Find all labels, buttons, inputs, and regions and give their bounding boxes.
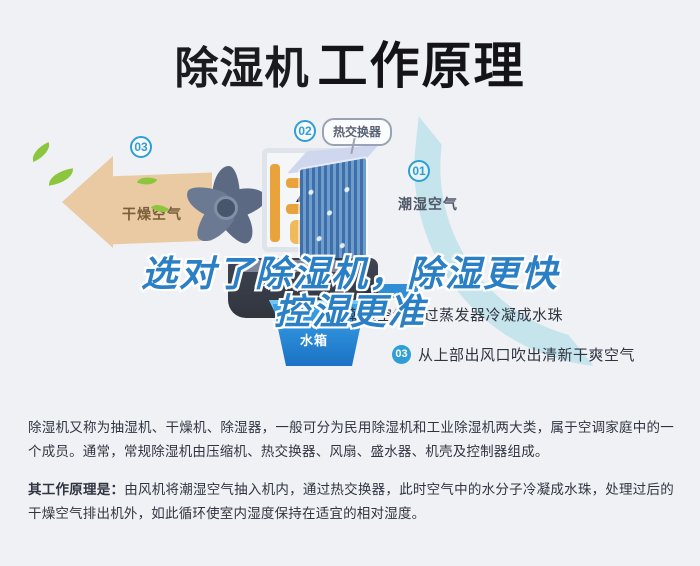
paragraph-principle: 其工作原理是：由风机将潮湿空气抽入机内，通过热交换器，此时空气中的水分子冷凝成水… bbox=[28, 478, 674, 526]
page-title: 除湿机工作原理 bbox=[0, 26, 700, 98]
step-caption-03: 03 从上部出风口吹出清新干爽空气 bbox=[392, 344, 635, 365]
heat-exchanger-callout: 热交换器 bbox=[322, 118, 392, 146]
step-number-badge: 03 bbox=[392, 345, 411, 364]
leaf-icon bbox=[29, 142, 54, 162]
water-tank-label: 水箱 bbox=[300, 330, 328, 349]
badge-03: 03 bbox=[130, 136, 152, 158]
paragraph-principle-rest: 由风机将潮湿空气抽入机内，通过热交换器，此时空气中的水分子冷凝成水珠，处理过后的… bbox=[28, 482, 674, 521]
badge-01: 01 bbox=[408, 160, 430, 182]
paragraph-principle-lead: 其工作原理是： bbox=[28, 482, 124, 497]
step-caption-02: 02 潮湿空气经过蒸发器冷凝成水珠 bbox=[320, 304, 563, 325]
condensation-droplets-icon bbox=[304, 165, 362, 267]
fan-hub-icon bbox=[214, 196, 238, 220]
page-title-part1: 除湿机 bbox=[175, 44, 310, 93]
step-number-badge: 02 bbox=[320, 305, 339, 324]
refrigerant-coil-icon bbox=[270, 164, 280, 242]
page-title-part2: 工作原理 bbox=[318, 38, 526, 94]
fan-icon bbox=[178, 160, 274, 256]
step-text: 潮湿空气经过蒸发器冷凝成水珠 bbox=[346, 304, 563, 325]
article-body: 除湿机又称为抽湿机、干燥机、除湿器，一般可分为民用除湿机和工业除湿机两大类，属于… bbox=[28, 416, 674, 526]
leaf-icon bbox=[47, 168, 75, 185]
machine-vent-icon bbox=[240, 260, 360, 272]
paragraph-definition: 除湿机又称为抽湿机、干燥机、除湿器，一般可分为民用除湿机和工业除湿机两大类，属于… bbox=[28, 416, 674, 464]
badge-02: 02 bbox=[294, 120, 316, 142]
humid-air-label: 潮湿空气 bbox=[398, 194, 458, 214]
dehumidifier-diagram: 干燥空气 水箱 03 02 01 热交换器 潮湿空气 02 潮湿空气经过蒸发器冷… bbox=[0, 108, 700, 400]
step-text: 从上部出风口吹出清新干爽空气 bbox=[418, 344, 635, 365]
